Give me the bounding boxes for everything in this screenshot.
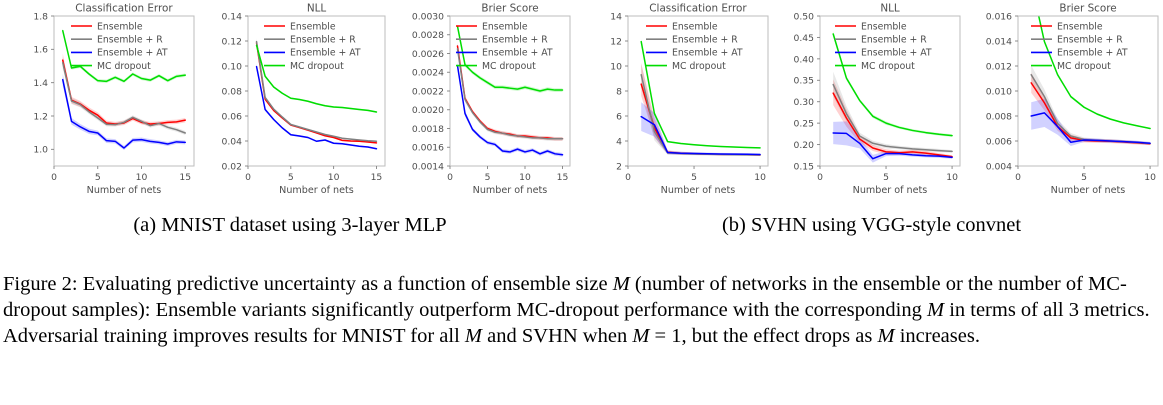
y-tick-label: 12 — [610, 36, 622, 47]
y-tick-label: 0.10 — [222, 61, 243, 72]
chart-title: Classification Error — [75, 3, 173, 15]
x-axis-label: Number of nets — [853, 185, 928, 196]
chart-svg-mnist-classification-error: 1.01.21.41.61.8051015Classification Erro… — [8, 0, 198, 200]
y-tick-label: 0.04 — [222, 136, 243, 147]
legend-label-ensemble-at: Ensemble + AT — [482, 48, 553, 59]
y-tick-label: 4 — [616, 136, 622, 147]
chart-panel-mnist-brier-score: 0.00140.00160.00180.00200.00220.00240.00… — [388, 0, 578, 200]
chart-svg-svhn-brier-score: 0.0040.0060.0080.0100.0120.0140.0160510B… — [963, 0, 1163, 200]
figure-caption: Figure 2: Evaluating predictive uncertai… — [3, 272, 1160, 349]
y-tick-label: 0.008 — [986, 111, 1012, 122]
y-tick-label: 0.14 — [222, 11, 243, 22]
x-tick-label: 5 — [1081, 172, 1087, 183]
legend-label-ensemble-at: Ensemble + AT — [290, 48, 361, 59]
legend-label-mc-dropout: MC dropout — [1057, 61, 1111, 72]
y-tick-label: 0.35 — [794, 76, 815, 87]
subcaption-a: (a) MNIST dataset using 3-layer MLP — [0, 210, 580, 240]
legend-label-ensemble-at: Ensemble + AT — [861, 48, 932, 59]
y-tick-label: 10 — [610, 61, 622, 72]
x-axis-label: Number of nets — [661, 185, 736, 196]
y-tick-label: 0.014 — [986, 36, 1012, 47]
x-tick-label: 10 — [136, 172, 148, 183]
y-tick-label: 0.40 — [794, 54, 815, 65]
legend-label-ensemble-r: Ensemble + R — [97, 35, 163, 46]
math-variable-m: M — [613, 273, 630, 295]
chart-panel-svhn-classification-error: 24681012140510Classification ErrorNumber… — [588, 0, 773, 200]
y-tick-label: 0.010 — [986, 86, 1012, 97]
x-tick-label: 5 — [288, 172, 294, 183]
y-tick-label: 0.20 — [794, 140, 815, 151]
legend-label-mc-dropout: MC dropout — [290, 61, 344, 72]
subcaption-row: (a) MNIST dataset using 3-layer MLP (b) … — [0, 210, 1163, 255]
legend-label-ensemble-r: Ensemble + R — [1057, 35, 1123, 46]
math-variable-m: M — [632, 325, 649, 347]
chart-title: Brier Score — [1059, 3, 1116, 15]
legend-label-ensemble: Ensemble — [482, 21, 528, 32]
y-tick-label: 0.06 — [222, 111, 243, 122]
y-tick-label: 0.08 — [222, 86, 243, 97]
legend-label-ensemble: Ensemble — [290, 21, 336, 32]
math-variable-m: M — [878, 325, 895, 347]
y-tick-label: 6 — [616, 111, 622, 122]
legend-label-ensemble-at: Ensemble + AT — [672, 48, 743, 59]
x-tick-label: 15 — [371, 172, 383, 183]
legend-label-ensemble: Ensemble — [672, 21, 718, 32]
y-tick-label: 1.0 — [33, 145, 48, 156]
y-tick-label: 0.45 — [794, 33, 815, 44]
chart-title: NLL — [880, 3, 900, 15]
legend-label-mc-dropout: MC dropout — [482, 61, 536, 72]
x-tick-label: 5 — [95, 172, 101, 183]
y-tick-label: 0.02 — [222, 161, 242, 172]
y-tick-label: 0.30 — [794, 97, 815, 108]
y-tick-label: 2 — [616, 161, 622, 172]
chart-panel-mnist-nll: 0.020.040.060.080.100.120.14051015NLLNum… — [196, 0, 388, 200]
y-tick-label: 0.50 — [794, 11, 815, 22]
caption-text-run: increases. — [895, 325, 980, 347]
x-tick-label: 0 — [51, 172, 57, 183]
y-tick-label: 1.8 — [33, 11, 48, 22]
y-tick-label: 1.6 — [33, 45, 48, 56]
math-variable-m: M — [927, 299, 944, 321]
chart-panel-svhn-nll: 0.150.200.250.300.350.400.450.500510NLLN… — [773, 0, 963, 200]
chart-title: NLL — [307, 3, 327, 15]
figure-2-root: 1.01.21.41.61.8051015Classification Erro… — [0, 0, 1163, 405]
x-tick-label: 0 — [1015, 172, 1021, 183]
x-tick-label: 5 — [691, 172, 697, 183]
x-tick-label: 10 — [1144, 172, 1156, 183]
y-tick-label: 0.004 — [986, 161, 1012, 172]
y-tick-label: 0.12 — [222, 36, 242, 47]
y-tick-label: 0.0024 — [412, 68, 444, 79]
legend-label-ensemble-r: Ensemble + R — [290, 35, 356, 46]
y-tick-label: 0.0030 — [412, 11, 444, 22]
y-tick-label: 0.25 — [794, 119, 815, 130]
x-tick-label: 0 — [245, 172, 251, 183]
legend-label-ensemble: Ensemble — [861, 21, 907, 32]
x-tick-label: 5 — [485, 172, 491, 183]
y-tick-label: 0.012 — [986, 61, 1012, 72]
y-tick-label: 0.0028 — [412, 30, 444, 41]
x-tick-label: 0 — [625, 172, 631, 183]
legend-label-ensemble-r: Ensemble + R — [672, 35, 738, 46]
x-axis-label: Number of nets — [473, 185, 548, 196]
chart-svg-mnist-nll: 0.020.040.060.080.100.120.14051015NLLNum… — [196, 0, 388, 200]
y-tick-label: 0.0014 — [412, 161, 444, 172]
chart-panel-svhn-brier-score: 0.0040.0060.0080.0100.0120.0140.0160510B… — [963, 0, 1163, 200]
chart-panel-mnist-classification-error: 1.01.21.41.61.8051015Classification Erro… — [8, 0, 198, 200]
chart-svg-svhn-classification-error: 24681012140510Classification ErrorNumber… — [588, 0, 773, 200]
x-tick-label: 0 — [447, 172, 453, 183]
caption-text-run: Figure 2: Evaluating predictive uncertai… — [3, 273, 613, 295]
legend-label-ensemble-at: Ensemble + AT — [97, 48, 168, 59]
x-tick-label: 10 — [328, 172, 340, 183]
chart-title: Classification Error — [649, 3, 747, 15]
chart-panel-row: 1.01.21.41.61.8051015Classification Erro… — [0, 0, 1163, 200]
x-axis-label: Number of nets — [87, 185, 162, 196]
y-tick-label: 0.0020 — [412, 105, 444, 116]
x-tick-label: 10 — [754, 172, 766, 183]
y-tick-label: 14 — [610, 11, 622, 22]
x-tick-label: 15 — [179, 172, 191, 183]
y-tick-label: 0.15 — [794, 161, 815, 172]
x-axis-label: Number of nets — [279, 185, 354, 196]
legend-label-mc-dropout: MC dropout — [861, 61, 915, 72]
x-tick-label: 5 — [883, 172, 889, 183]
chart-svg-svhn-nll: 0.150.200.250.300.350.400.450.500510NLLN… — [773, 0, 963, 200]
y-tick-label: 1.2 — [33, 111, 48, 122]
legend-label-ensemble-r: Ensemble + R — [861, 35, 927, 46]
legend-label-mc-dropout: MC dropout — [97, 61, 151, 72]
caption-text-run: = 1, but the effect drops as — [649, 325, 877, 347]
legend-label-ensemble: Ensemble — [1057, 21, 1103, 32]
math-variable-m: M — [465, 325, 482, 347]
y-tick-label: 0.016 — [986, 11, 1012, 22]
legend-label-mc-dropout: MC dropout — [672, 61, 726, 72]
x-tick-label: 0 — [817, 172, 823, 183]
legend-label-ensemble-r: Ensemble + R — [482, 35, 548, 46]
y-tick-label: 1.4 — [33, 78, 48, 89]
x-tick-label: 15 — [557, 172, 569, 183]
y-tick-label: 0.0022 — [412, 86, 444, 97]
y-tick-label: 0.006 — [986, 136, 1012, 147]
subcaption-b: (b) SVHN using VGG-style convnet — [580, 210, 1163, 240]
y-tick-label: 8 — [616, 86, 622, 97]
y-tick-label: 0.0018 — [412, 124, 444, 135]
legend-label-ensemble: Ensemble — [97, 21, 143, 32]
y-tick-label: 0.0026 — [412, 49, 444, 60]
legend-label-ensemble-at: Ensemble + AT — [1057, 48, 1128, 59]
x-axis-label: Number of nets — [1051, 185, 1126, 196]
chart-svg-mnist-brier-score: 0.00140.00160.00180.00200.00220.00240.00… — [388, 0, 578, 200]
y-tick-label: 0.0016 — [412, 143, 444, 154]
chart-title: Brier Score — [481, 3, 538, 15]
caption-text-run: and SVHN when — [482, 325, 632, 347]
x-tick-label: 10 — [946, 172, 958, 183]
x-tick-label: 10 — [519, 172, 531, 183]
